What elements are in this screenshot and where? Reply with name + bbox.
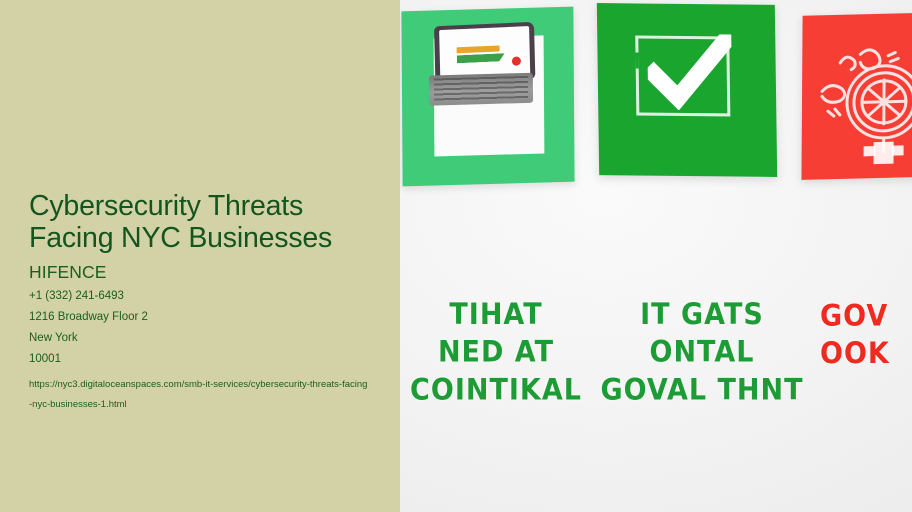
laptop-keyboard xyxy=(429,73,533,106)
caption-laptop: TIHAT NED AT COINTIKAL xyxy=(400,296,594,409)
paper-card-red xyxy=(801,12,912,180)
laptop-screen xyxy=(439,26,530,79)
handwriting-row: TIHAT NED AT COINTIKAL IT GATS ONTAL GOV… xyxy=(400,300,912,412)
paper-card-checkbox xyxy=(597,3,777,177)
photo-panel: TIHAT NED AT COINTIKAL IT GATS ONTAL GOV… xyxy=(400,0,912,512)
checkbox-check-icon xyxy=(647,34,732,111)
caption-red: GOV OOK xyxy=(820,297,912,373)
phone-number: +1 (332) 241-6493 xyxy=(29,286,389,307)
brand-name: HIFENCE xyxy=(29,261,389,283)
address-city: New York xyxy=(29,328,389,349)
screen-dot-red xyxy=(512,56,521,65)
info-content: Cybersecurity Threats Facing NYC Busines… xyxy=(29,190,389,415)
page-title: Cybersecurity Threats Facing NYC Busines… xyxy=(29,190,389,254)
paper-card-laptop xyxy=(401,7,574,187)
laptop-icon xyxy=(429,23,534,106)
info-panel: Cybersecurity Threats Facing NYC Busines… xyxy=(0,0,400,512)
screen-bar-orange xyxy=(457,45,500,53)
source-url[interactable]: https://nyc3.digitaloceanspaces.com/smb-… xyxy=(29,375,369,415)
keyboard-keys xyxy=(434,76,528,102)
caption-checkbox: IT GATS ONTAL GOVAL THNT xyxy=(586,296,818,409)
poster-page: Cybersecurity Threats Facing NYC Busines… xyxy=(0,0,912,512)
magnifier-sketch-icon xyxy=(801,12,912,180)
address-street: 1216 Broadway Floor 2 xyxy=(29,307,389,328)
address-zip: 10001 xyxy=(29,349,389,370)
screen-bar-green xyxy=(457,53,505,63)
